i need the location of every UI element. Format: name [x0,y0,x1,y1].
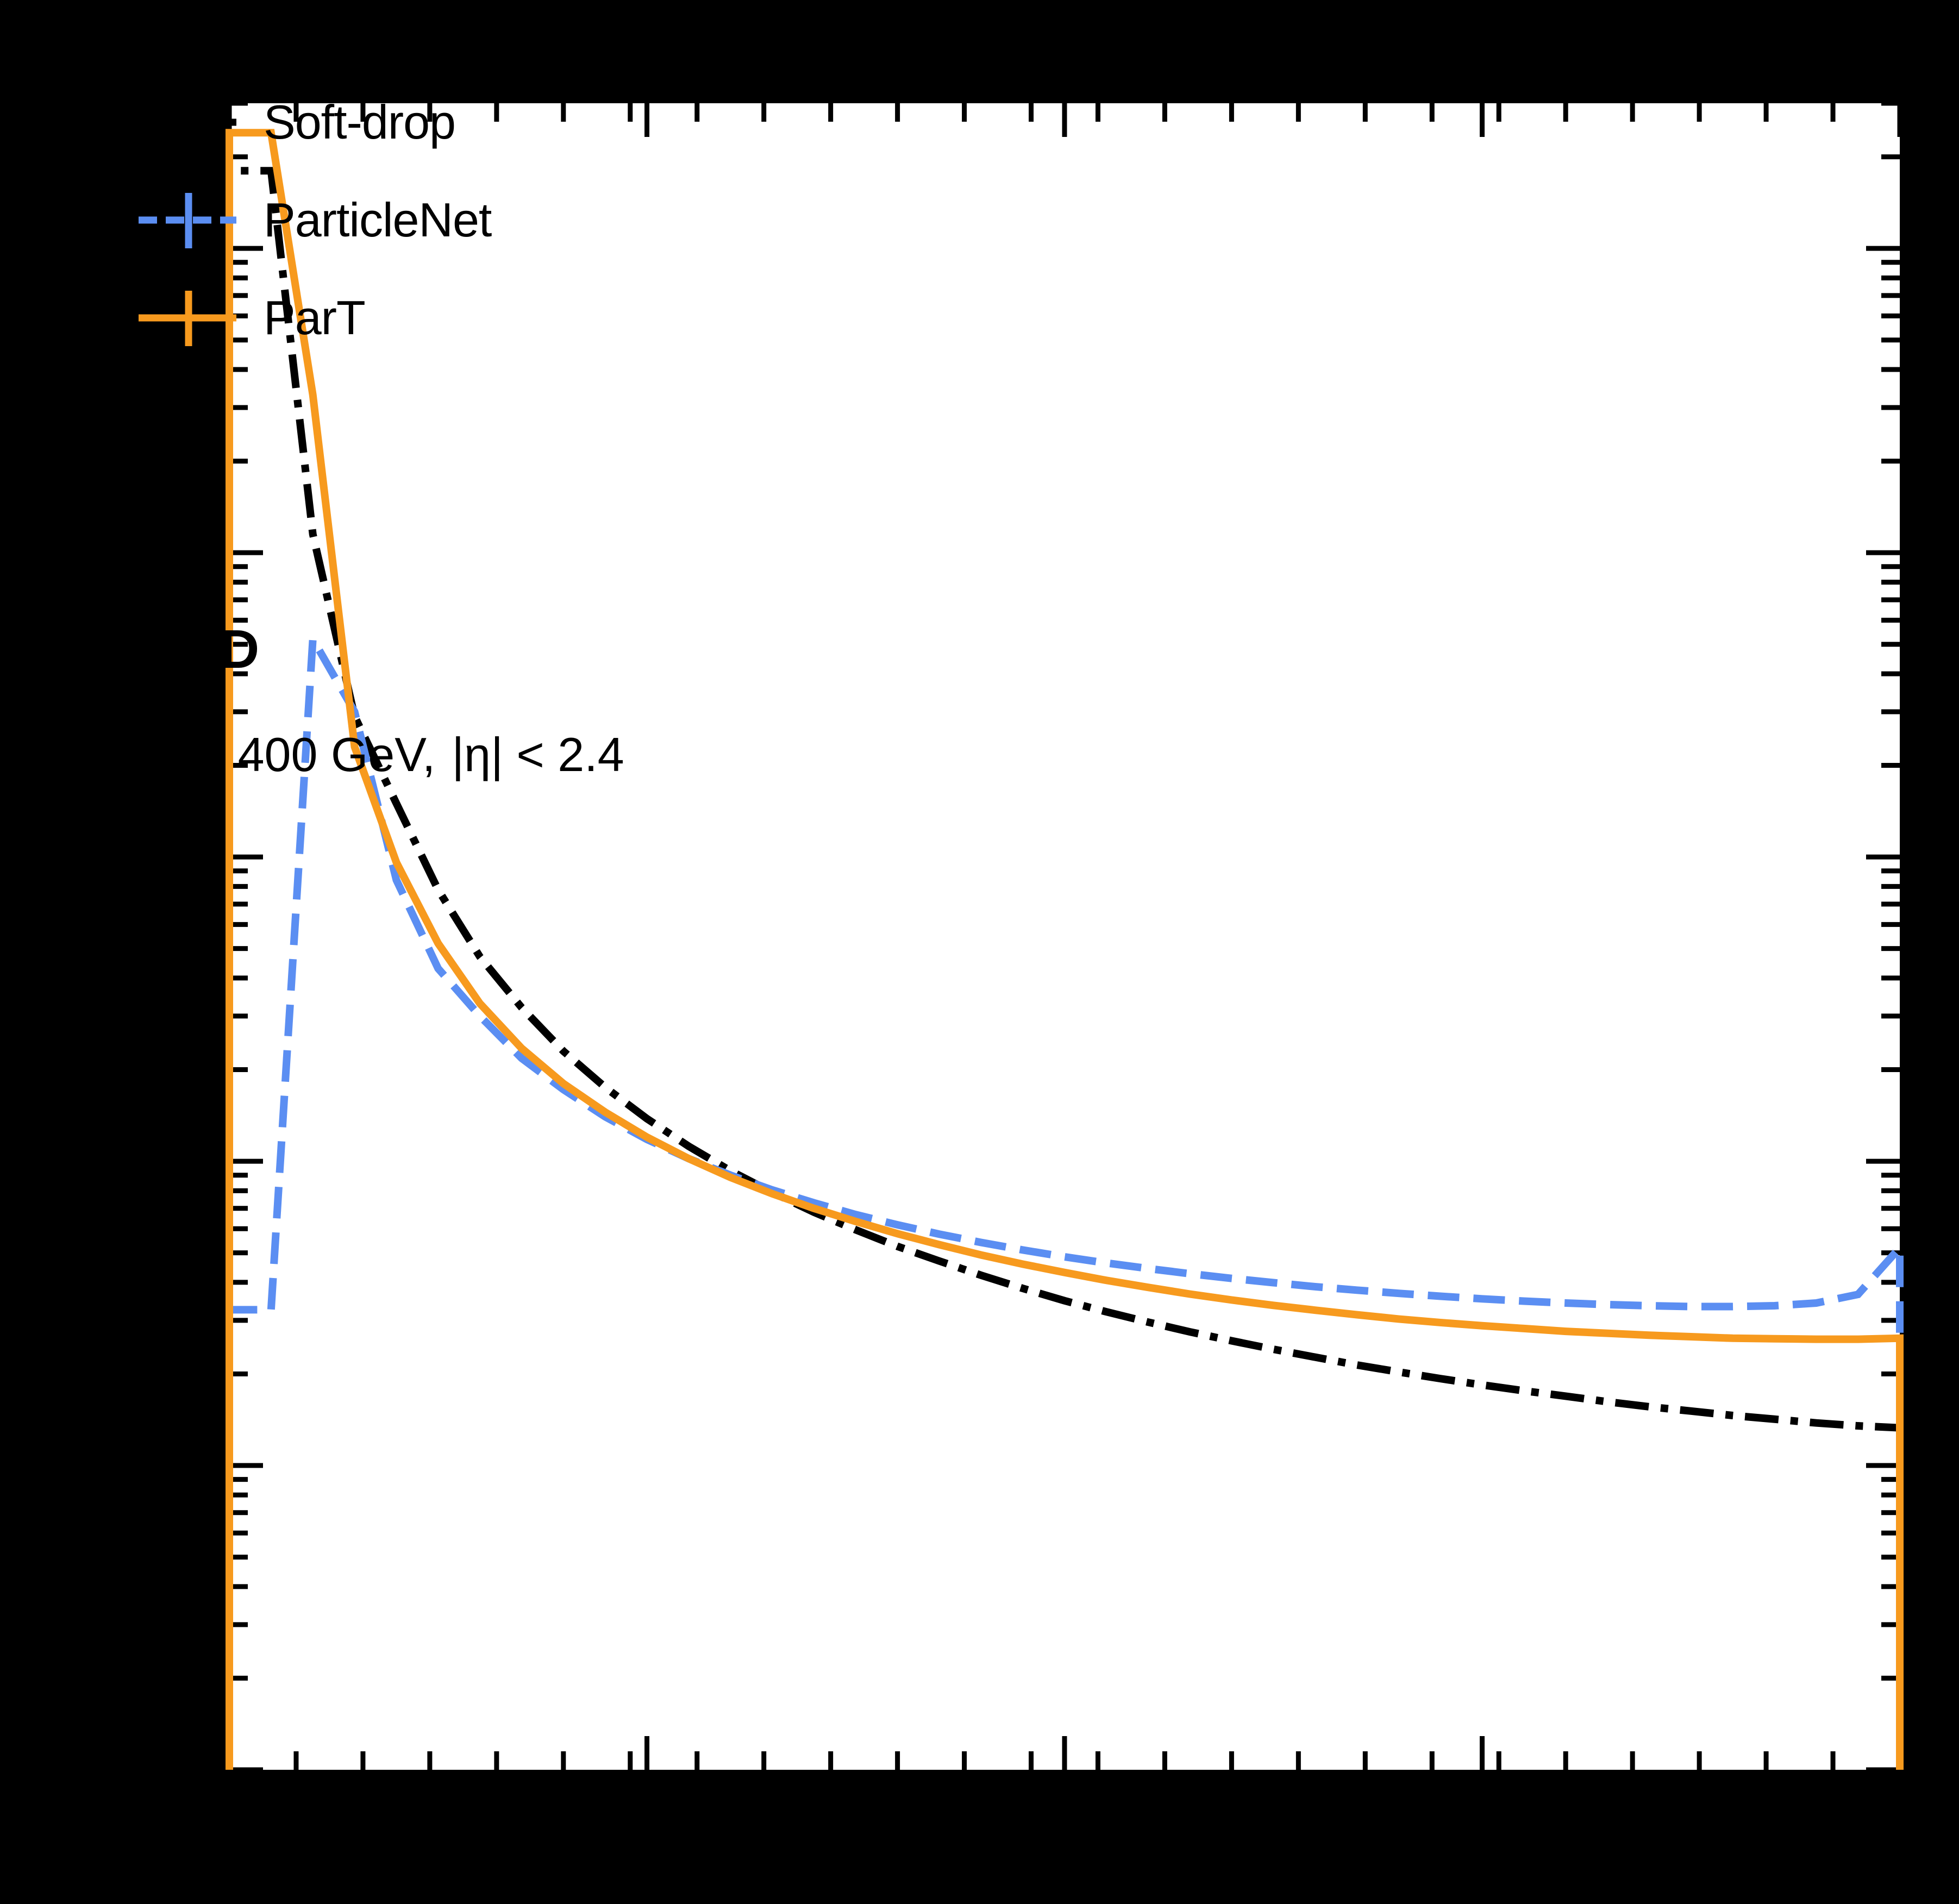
kinematics-pt-subscript: T [165,751,183,784]
legend: Soft-drop ParticleNet ParT [139,73,845,367]
legend-marker-part [139,285,236,350]
series-soft-drop [229,171,1900,1770]
legend-label-part: ParT [264,294,365,342]
annotation-sample-label: QCD [139,622,259,677]
legend-marker-particlenet [139,187,236,253]
annotation-kinematics: pT > 400 GeV,|η| < 2.4 [139,731,624,779]
legend-label-soft-drop: Soft-drop [264,98,455,146]
legend-item-soft-drop[interactable]: Soft-drop [139,73,845,171]
figure-root: Soft-drop ParticleNet ParT QCD pT > [0,0,1959,1904]
kinematics-pt-cut: > 400 GeV, [183,728,435,781]
kinematics-eta-cut: |η| < 2.4 [452,728,624,781]
legend-label-particlenet: ParticleNet [264,196,491,244]
legend-item-particlenet[interactable]: ParticleNet [139,171,845,269]
kinematics-pt-symbol: p [139,728,165,781]
series-particlenet [229,639,1900,1770]
legend-marker-soft-drop [139,90,236,155]
legend-item-part[interactable]: ParT [139,269,845,367]
